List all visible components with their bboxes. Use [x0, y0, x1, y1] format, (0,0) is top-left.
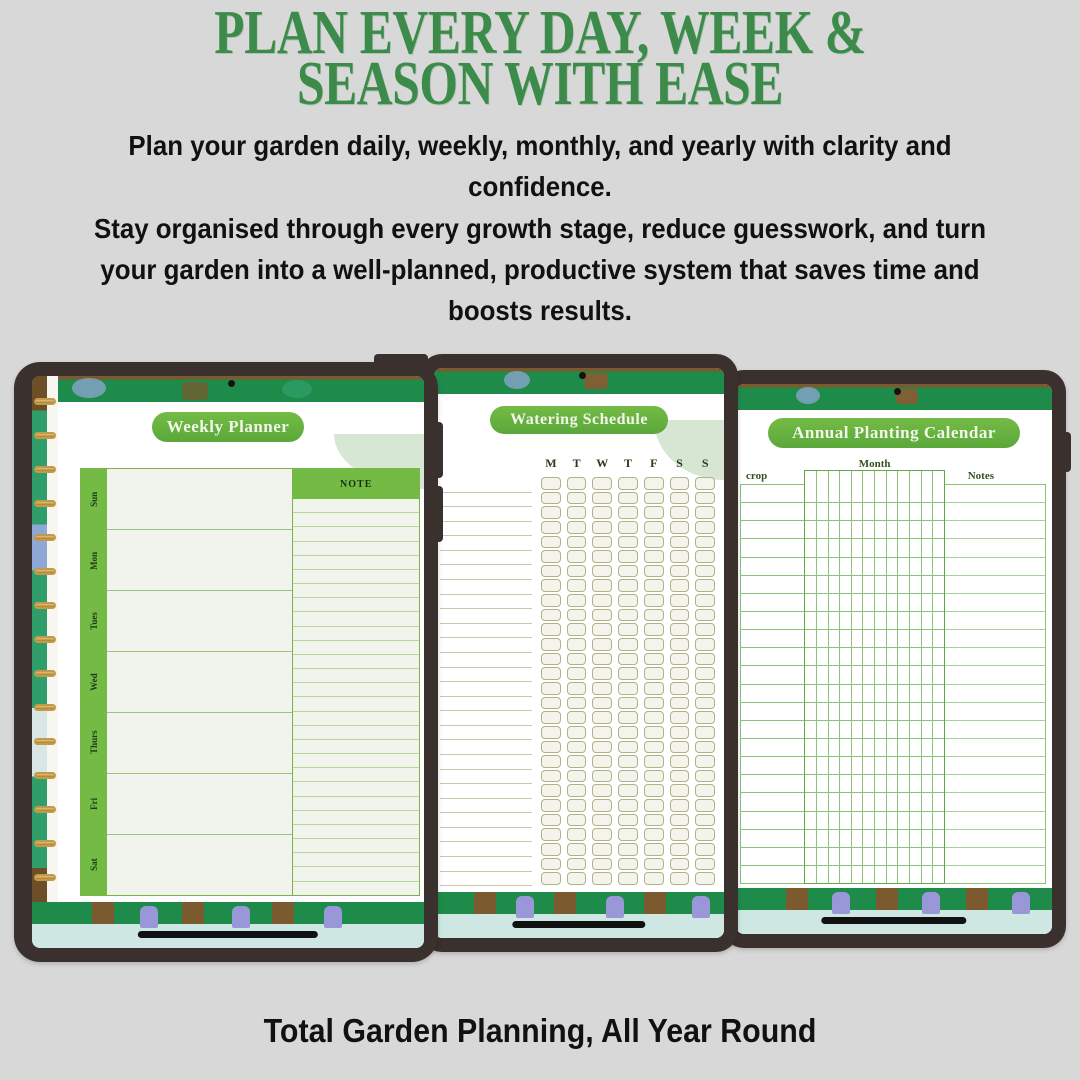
watering-checkbox[interactable] [592, 536, 612, 549]
watering-checkbox[interactable] [541, 682, 561, 695]
watering-checkbox[interactable] [541, 565, 561, 578]
watering-checkbox[interactable] [644, 843, 664, 856]
watering-checkbox[interactable] [618, 550, 638, 563]
watering-checkbox[interactable] [644, 492, 664, 505]
plant-name-line [440, 799, 532, 814]
watering-checkbox[interactable] [592, 726, 612, 739]
watering-checkbox-grid[interactable]: MTWTFSS [532, 456, 718, 886]
watering-checkbox[interactable] [670, 506, 690, 519]
watering-checkbox[interactable] [567, 872, 587, 885]
watering-checkbox[interactable] [592, 623, 612, 636]
notes-row-line [945, 666, 1045, 684]
watering-checkbox[interactable] [695, 550, 715, 563]
plant-name-line [440, 595, 532, 610]
note-line [293, 499, 419, 513]
watering-checkbox[interactable] [567, 477, 587, 490]
watering-checkbox[interactable] [695, 799, 715, 812]
watering-checkbox[interactable] [618, 594, 638, 607]
device-button-top[interactable] [374, 354, 428, 370]
watering-checkbox[interactable] [644, 741, 664, 754]
watering-checkbox[interactable] [618, 477, 638, 490]
watering-checkbox[interactable] [541, 638, 561, 651]
watering-checkbox[interactable] [695, 609, 715, 622]
watering-checkbox[interactable] [618, 623, 638, 636]
watering-checkbox[interactable] [592, 521, 612, 534]
watering-checkbox[interactable] [567, 858, 587, 871]
watering-checkbox[interactable] [670, 726, 690, 739]
watering-checkbox[interactable] [644, 858, 664, 871]
watering-checkbox[interactable] [592, 653, 612, 666]
watering-checkbox[interactable] [670, 521, 690, 534]
watering-checkbox[interactable] [670, 770, 690, 783]
watering-checkbox[interactable] [695, 623, 715, 636]
notes-row-line [945, 830, 1045, 848]
watering-checkbox[interactable] [592, 506, 612, 519]
watering-checkbox[interactable] [644, 828, 664, 841]
watering-checkbox[interactable] [695, 667, 715, 680]
watering-checkbox[interactable] [670, 594, 690, 607]
plant-name-line [440, 697, 532, 712]
watering-checkbox[interactable] [644, 872, 664, 885]
plant-name-line [440, 624, 532, 639]
watering-checkbox[interactable] [541, 843, 561, 856]
month-row-line [805, 685, 944, 703]
watering-checkbox[interactable] [541, 858, 561, 871]
watering-checkbox[interactable] [695, 579, 715, 592]
watering-checkbox[interactable] [567, 799, 587, 812]
watering-checkbox[interactable] [592, 565, 612, 578]
notes-row-line [945, 848, 1045, 866]
note-line [293, 839, 419, 853]
title-weekly-planner: Weekly Planner [152, 412, 304, 442]
plant-name-line [440, 740, 532, 755]
watering-checkbox[interactable] [644, 579, 664, 592]
home-indicator[interactable] [512, 921, 645, 928]
watering-checkbox[interactable] [618, 682, 638, 695]
watering-checkbox[interactable] [618, 755, 638, 768]
note-line [293, 556, 419, 570]
watering-checkbox[interactable] [567, 755, 587, 768]
plant-name-lines[interactable] [440, 456, 532, 886]
watering-checkbox[interactable] [541, 799, 561, 812]
crop-row-line [741, 721, 804, 739]
day-entry-box[interactable] [107, 469, 292, 530]
watering-checkbox[interactable] [567, 623, 587, 636]
watering-checkbox[interactable] [644, 550, 664, 563]
watering-checkbox[interactable] [670, 536, 690, 549]
watering-day-header: W [596, 456, 608, 476]
month-row-line [805, 503, 944, 521]
description-block: Plan your garden daily, weekly, monthly,… [70, 125, 1010, 331]
watering-checkbox[interactable] [618, 609, 638, 622]
watering-checkbox[interactable] [541, 492, 561, 505]
watering-checkbox[interactable] [618, 492, 638, 505]
watering-checkbox[interactable] [592, 594, 612, 607]
watering-checkbox[interactable] [695, 814, 715, 827]
watering-checkbox[interactable] [567, 594, 587, 607]
watering-checkbox[interactable] [670, 638, 690, 651]
note-line [293, 641, 419, 655]
crop-row-line [741, 685, 804, 703]
crop-row-line [741, 739, 804, 757]
watering-checkbox[interactable] [670, 653, 690, 666]
watering-checkbox[interactable] [592, 784, 612, 797]
watering-checkbox[interactable] [618, 784, 638, 797]
watering-checkbox[interactable] [567, 536, 587, 549]
plant-name-line [440, 813, 532, 828]
watering-checkbox[interactable] [695, 843, 715, 856]
crop-row-line [741, 757, 804, 775]
watering-checkbox[interactable] [592, 638, 612, 651]
crop-row-line [741, 539, 804, 557]
watering-checkbox[interactable] [644, 667, 664, 680]
watering-checkbox[interactable] [567, 682, 587, 695]
watering-checkbox[interactable] [644, 521, 664, 534]
watering-checkbox[interactable] [592, 550, 612, 563]
watering-checkbox[interactable] [695, 565, 715, 578]
watering-checkbox[interactable] [618, 697, 638, 710]
watering-checkbox[interactable] [695, 638, 715, 651]
camera-dot [228, 380, 235, 387]
watering-checkbox[interactable] [592, 814, 612, 827]
watering-checkbox[interactable] [695, 858, 715, 871]
notes-row-line [945, 539, 1045, 557]
watering-checkbox[interactable] [592, 697, 612, 710]
watering-checkbox-stack [564, 476, 590, 886]
note-lines[interactable] [293, 499, 419, 895]
watering-checkbox[interactable] [644, 623, 664, 636]
watering-checkbox-stack [538, 476, 564, 886]
month-row-line [805, 666, 944, 684]
page-title: PLAN EVERY DAY, WEEK & SEASON WITH EASE [124, 8, 956, 110]
watering-checkbox[interactable] [644, 565, 664, 578]
watering-checkbox[interactable] [644, 770, 664, 783]
crop-row-line [741, 521, 804, 539]
watering-checkbox[interactable] [618, 536, 638, 549]
watering-checkbox[interactable] [644, 653, 664, 666]
crop-row-line [741, 866, 804, 883]
watering-checkbox[interactable] [695, 770, 715, 783]
day-entry-box[interactable] [107, 652, 292, 713]
annual-planting-calendar-table: crop Month Notes [740, 458, 1046, 884]
watering-checkbox[interactable] [670, 492, 690, 505]
watering-checkbox[interactable] [670, 682, 690, 695]
watering-checkbox[interactable] [618, 872, 638, 885]
watering-checkbox[interactable] [567, 828, 587, 841]
watering-checkbox[interactable] [592, 682, 612, 695]
watering-checkbox[interactable] [670, 711, 690, 724]
watering-checkbox[interactable] [644, 682, 664, 695]
watering-checkbox[interactable] [618, 799, 638, 812]
watering-checkbox[interactable] [644, 711, 664, 724]
notes-column[interactable] [945, 484, 1046, 884]
note-header: NOTE [293, 469, 419, 499]
watering-checkbox[interactable] [592, 741, 612, 754]
watering-checkbox[interactable] [644, 506, 664, 519]
watering-checkbox[interactable] [541, 828, 561, 841]
note-line [293, 570, 419, 584]
watering-checkbox[interactable] [541, 477, 561, 490]
watering-checkbox[interactable] [567, 770, 587, 783]
watering-checkbox[interactable] [541, 814, 561, 827]
watering-checkbox[interactable] [670, 697, 690, 710]
watering-checkbox[interactable] [695, 828, 715, 841]
watering-checkbox[interactable] [695, 711, 715, 724]
description-paragraph-2: Stay organised through every growth stag… [70, 208, 1010, 332]
watering-checkbox[interactable] [618, 741, 638, 754]
notes-row-line [945, 612, 1045, 630]
watering-checkbox[interactable] [567, 726, 587, 739]
month-row-line [805, 576, 944, 594]
month-row-line [805, 612, 944, 630]
decorative-bottom-band [32, 902, 424, 948]
day-entry-box[interactable] [107, 774, 292, 835]
watering-checkbox[interactable] [618, 565, 638, 578]
day-entry-column[interactable] [107, 469, 292, 895]
watering-checkbox[interactable] [541, 536, 561, 549]
watering-checkbox[interactable] [618, 726, 638, 739]
watering-checkbox[interactable] [567, 814, 587, 827]
watering-checkbox[interactable] [618, 667, 638, 680]
watering-checkbox[interactable] [670, 843, 690, 856]
day-entry-box[interactable] [107, 591, 292, 652]
month-row-line [805, 812, 944, 830]
month-row-line [805, 866, 944, 883]
notes-row-line [945, 757, 1045, 775]
watering-checkbox[interactable] [695, 697, 715, 710]
decorative-bottom-band [434, 892, 724, 938]
device-button-volume-up[interactable] [431, 422, 443, 478]
watering-checkbox[interactable] [618, 828, 638, 841]
notes-row-line [945, 576, 1045, 594]
watering-checkbox[interactable] [592, 858, 612, 871]
plant-name-line [440, 507, 532, 522]
watering-checkbox[interactable] [567, 667, 587, 680]
watering-checkbox[interactable] [592, 609, 612, 622]
watering-day-column: S [667, 456, 693, 886]
watering-checkbox[interactable] [592, 799, 612, 812]
device-button-volume-down[interactable] [431, 486, 443, 542]
watering-checkbox[interactable] [541, 506, 561, 519]
watering-checkbox[interactable] [618, 711, 638, 724]
crop-row-line [741, 594, 804, 612]
watering-checkbox[interactable] [695, 784, 715, 797]
watering-checkbox[interactable] [567, 697, 587, 710]
description-paragraph-1: Plan your garden daily, weekly, monthly,… [70, 125, 1010, 208]
watering-checkbox[interactable] [592, 843, 612, 856]
watering-checkbox[interactable] [567, 843, 587, 856]
notes-row-line [945, 485, 1045, 503]
watering-checkbox[interactable] [567, 492, 587, 505]
watering-checkbox[interactable] [618, 843, 638, 856]
watering-checkbox[interactable] [567, 506, 587, 519]
watering-checkbox[interactable] [670, 872, 690, 885]
watering-checkbox[interactable] [592, 872, 612, 885]
watering-checkbox[interactable] [592, 828, 612, 841]
home-indicator[interactable] [821, 917, 966, 924]
watering-checkbox[interactable] [541, 697, 561, 710]
title-watering-schedule: Watering Schedule [490, 406, 668, 434]
watering-checkbox[interactable] [644, 726, 664, 739]
watering-checkbox[interactable] [670, 609, 690, 622]
watering-checkbox[interactable] [670, 550, 690, 563]
watering-checkbox[interactable] [567, 521, 587, 534]
watering-checkbox[interactable] [592, 667, 612, 680]
day-label-column: Sun Mon Tues Wed Thurs Fri Sat [81, 469, 107, 895]
watering-checkbox[interactable] [592, 579, 612, 592]
watering-checkbox[interactable] [541, 594, 561, 607]
month-row-line [805, 793, 944, 811]
screen-annual-planting-calendar: Annual Planting Calendar crop Month Note… [736, 384, 1052, 934]
watering-checkbox[interactable] [670, 814, 690, 827]
watering-checkbox[interactable] [695, 506, 715, 519]
day-entry-box[interactable] [107, 530, 292, 591]
watering-checkbox[interactable] [644, 536, 664, 549]
month-row-line [805, 521, 944, 539]
watering-checkbox[interactable] [670, 784, 690, 797]
note-line [293, 740, 419, 754]
watering-checkbox-stack [589, 476, 615, 886]
note-line [293, 627, 419, 641]
watering-checkbox-stack [692, 476, 718, 886]
watering-checkbox[interactable] [618, 579, 638, 592]
watering-day-header: S [676, 456, 683, 476]
weekly-planner-table: Sun Mon Tues Wed Thurs Fri Sat [80, 468, 420, 896]
watering-checkbox[interactable] [541, 579, 561, 592]
watering-checkbox[interactable] [592, 770, 612, 783]
watering-checkbox[interactable] [541, 623, 561, 636]
month-row-line [805, 485, 944, 503]
device-button-power[interactable] [1061, 432, 1071, 472]
watering-checkbox[interactable] [644, 697, 664, 710]
watering-checkbox[interactable] [644, 477, 664, 490]
note-column: NOTE [292, 469, 419, 895]
watering-checkbox[interactable] [695, 492, 715, 505]
watering-checkbox[interactable] [567, 565, 587, 578]
screen-weekly-planner: Weekly Planner Sun Mon Tues Wed Thurs Fr… [32, 376, 424, 948]
watering-checkbox[interactable] [541, 784, 561, 797]
watering-checkbox[interactable] [695, 477, 715, 490]
crop-column[interactable] [740, 484, 804, 884]
watering-checkbox[interactable] [541, 872, 561, 885]
watering-checkbox[interactable] [592, 477, 612, 490]
camera-dot [894, 388, 901, 395]
watering-checkbox[interactable] [592, 711, 612, 724]
watering-checkbox[interactable] [644, 594, 664, 607]
watering-checkbox[interactable] [695, 741, 715, 754]
day-entry-box[interactable] [107, 713, 292, 774]
watering-checkbox[interactable] [567, 550, 587, 563]
decorative-top-band [736, 384, 1052, 410]
month-column-group[interactable] [804, 470, 945, 884]
watering-checkbox[interactable] [567, 653, 587, 666]
notes-row-line [945, 558, 1045, 576]
watering-checkbox[interactable] [670, 579, 690, 592]
day-label: Thurs [81, 712, 107, 773]
watering-checkbox[interactable] [618, 858, 638, 871]
day-entry-box[interactable] [107, 835, 292, 895]
watering-checkbox[interactable] [618, 638, 638, 651]
watering-checkbox[interactable] [592, 755, 612, 768]
watering-checkbox[interactable] [670, 477, 690, 490]
watering-checkbox[interactable] [618, 814, 638, 827]
plant-name-line [440, 580, 532, 595]
watering-checkbox[interactable] [644, 784, 664, 797]
watering-checkbox[interactable] [618, 653, 638, 666]
notes-row-line [945, 685, 1045, 703]
watering-day-column: T [615, 456, 641, 886]
watering-checkbox[interactable] [644, 814, 664, 827]
crop-row-line [741, 848, 804, 866]
watering-checkbox[interactable] [567, 579, 587, 592]
watering-checkbox[interactable] [670, 799, 690, 812]
watering-checkbox[interactable] [695, 726, 715, 739]
watering-schedule-table: MTWTFSS [440, 456, 718, 886]
watering-checkbox[interactable] [567, 711, 587, 724]
day-label: Sun [81, 469, 107, 530]
crop-row-line [741, 576, 804, 594]
month-row-lines [805, 471, 944, 883]
watering-checkbox[interactable] [541, 755, 561, 768]
watering-checkbox[interactable] [695, 682, 715, 695]
watering-checkbox[interactable] [644, 755, 664, 768]
watering-checkbox[interactable] [567, 609, 587, 622]
note-line [293, 598, 419, 612]
plant-name-line [440, 565, 532, 580]
month-row-line [805, 739, 944, 757]
watering-checkbox[interactable] [618, 770, 638, 783]
watering-checkbox[interactable] [695, 872, 715, 885]
watering-checkbox[interactable] [618, 521, 638, 534]
home-indicator[interactable] [138, 931, 318, 938]
watering-checkbox[interactable] [695, 536, 715, 549]
watering-checkbox[interactable] [541, 521, 561, 534]
watering-checkbox[interactable] [695, 755, 715, 768]
notes-row-line [945, 703, 1045, 721]
watering-checkbox[interactable] [618, 506, 638, 519]
watering-checkbox[interactable] [644, 638, 664, 651]
watering-checkbox[interactable] [541, 726, 561, 739]
watering-checkbox[interactable] [567, 784, 587, 797]
day-label: Sat [81, 834, 107, 895]
crop-row-line [741, 630, 804, 648]
watering-checkbox[interactable] [541, 653, 561, 666]
watering-checkbox[interactable] [541, 667, 561, 680]
notes-row-line [945, 812, 1045, 830]
watering-checkbox[interactable] [541, 741, 561, 754]
watering-checkbox[interactable] [567, 638, 587, 651]
watering-checkbox[interactable] [541, 711, 561, 724]
day-label: Mon [81, 530, 107, 591]
watering-checkbox[interactable] [567, 741, 587, 754]
watering-checkbox[interactable] [670, 858, 690, 871]
watering-checkbox[interactable] [541, 609, 561, 622]
watering-checkbox[interactable] [695, 521, 715, 534]
watering-checkbox[interactable] [670, 828, 690, 841]
watering-checkbox[interactable] [592, 492, 612, 505]
watering-checkbox[interactable] [644, 799, 664, 812]
watering-checkbox[interactable] [541, 550, 561, 563]
watering-checkbox[interactable] [670, 565, 690, 578]
watering-checkbox[interactable] [670, 667, 690, 680]
watering-checkbox[interactable] [670, 755, 690, 768]
watering-checkbox[interactable] [541, 770, 561, 783]
watering-checkbox[interactable] [670, 741, 690, 754]
watering-checkbox[interactable] [670, 623, 690, 636]
watering-checkbox[interactable] [644, 609, 664, 622]
watering-checkbox[interactable] [695, 594, 715, 607]
watering-checkbox[interactable] [695, 653, 715, 666]
